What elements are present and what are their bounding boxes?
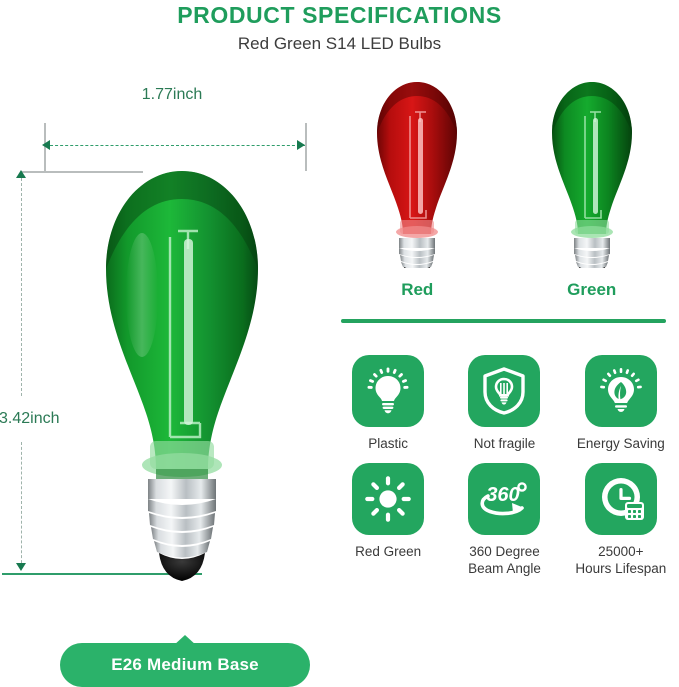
shield-bulb-icon: [479, 366, 529, 416]
bulb-red-icon: [369, 78, 465, 268]
width-extension-line-right: [305, 123, 307, 171]
width-dimension-label: 1.77inch: [36, 86, 308, 104]
feature-tile: [585, 355, 657, 427]
feature-label: 360 DegreeBeam Angle: [468, 544, 541, 578]
screw-threads: [148, 499, 216, 558]
feature-grid: Plastic Not fragile: [330, 355, 679, 578]
height-arrow-bottom-icon: [16, 563, 26, 571]
height-dimension-line-upper: [21, 178, 22, 396]
color-variant-red: [330, 60, 505, 270]
svg-text:360: 360: [487, 484, 520, 506]
width-dimension-line: [45, 145, 305, 146]
feature-item-lifespan: 25000+Hours Lifespan: [563, 463, 679, 578]
bulb-green-large-icon: [92, 165, 272, 585]
360-degree-icon: 360: [478, 474, 530, 524]
clock-calendar-icon: [596, 474, 646, 524]
feature-item-not-fragile: Not fragile: [446, 355, 562, 453]
leaf-bulb-icon: [596, 366, 646, 416]
right-panel: Red Green: [330, 60, 679, 638]
feature-tile: 360: [468, 463, 540, 535]
base-type-label: E26 Medium Base: [111, 655, 259, 675]
page-header: PRODUCT SPECIFICATIONS Red Green S14 LED…: [0, 0, 679, 55]
bulb-red-illustration: [369, 78, 465, 273]
color-variant-green: [505, 60, 679, 270]
page-title: PRODUCT SPECIFICATIONS: [0, 3, 679, 29]
bulb-green-illustration: [544, 78, 640, 273]
color-variant-labels: Red Green: [330, 280, 679, 300]
feature-tile: [585, 463, 657, 535]
bulb-rays-icon: [363, 366, 413, 416]
main-bulb-illustration: [92, 165, 272, 585]
product-specifications-page: PRODUCT SPECIFICATIONS Red Green S14 LED…: [0, 0, 679, 638]
feature-label: Energy Saving: [577, 436, 665, 453]
pill-notch-icon: [173, 635, 197, 646]
feature-item-plastic: Plastic: [330, 355, 446, 453]
width-arrow-right-icon: [297, 140, 305, 150]
feature-item-red-green: Red Green: [330, 463, 446, 578]
feature-item-energy-saving: Energy Saving: [563, 355, 679, 453]
color-label-green: Green: [505, 280, 679, 300]
width-arrow-left-icon: [42, 140, 50, 150]
height-arrow-top-icon: [16, 170, 26, 178]
page-subtitle: Red Green S14 LED Bulbs: [0, 33, 679, 55]
color-label-red: Red: [330, 280, 505, 300]
feature-label: Red Green: [355, 544, 421, 561]
bulb-green-small-icon: [544, 78, 640, 268]
feature-tile: [352, 463, 424, 535]
height-dimension-line-lower: [21, 442, 22, 568]
feature-item-beam-angle: 360 360 DegreeBeam Angle: [446, 463, 562, 578]
height-dimension-label: 3.42inch: [0, 408, 61, 430]
section-divider: [341, 319, 666, 323]
base-type-badge: E26 Medium Base: [60, 635, 310, 687]
sun-icon: [363, 474, 413, 524]
feature-label: 25000+Hours Lifespan: [575, 544, 666, 578]
feature-label: Not fragile: [474, 436, 536, 453]
dimension-diagram-panel: 1.77inch 3.42inch: [0, 60, 330, 638]
feature-tile: [468, 355, 540, 427]
feature-label: Plastic: [368, 436, 408, 453]
color-variants-row: [330, 60, 679, 270]
feature-tile: [352, 355, 424, 427]
base-type-pill: E26 Medium Base: [60, 643, 310, 687]
